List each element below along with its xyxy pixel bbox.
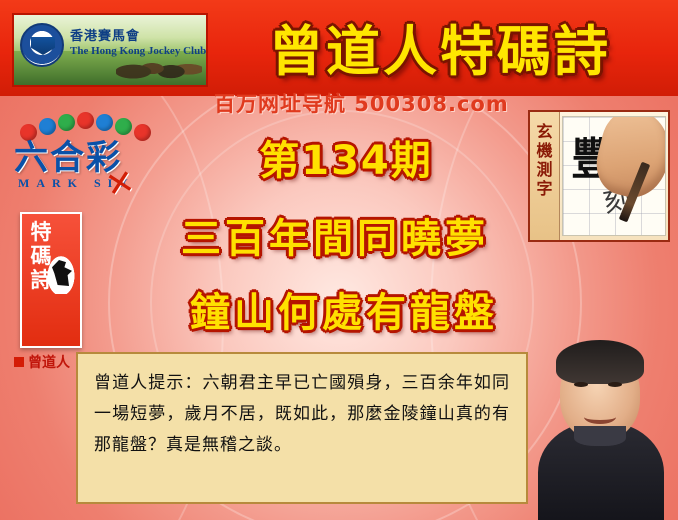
lottery-ball	[134, 124, 151, 141]
lottery-ball	[58, 114, 75, 131]
mark-six-logo: 六合彩 MARK SIX ✕	[14, 112, 162, 204]
poem-line-2: 鐘山何處有龍盤	[138, 280, 550, 338]
panel-label: 玄機測字	[530, 112, 560, 240]
lottery-ball	[96, 114, 113, 131]
jockey-club-logo-icon	[20, 23, 64, 67]
bullet-square-icon	[14, 357, 24, 367]
portrait-mouth	[584, 410, 616, 424]
portrait-eye-left	[574, 382, 588, 387]
header-banner: 香港賽馬會 The Hong Kong Jockey Club 曾道人特碼詩	[0, 0, 678, 96]
author-tag-label: 曾道人	[28, 355, 70, 371]
note-box: 曾道人提示：六朝君主早已亡國殞身，三百余年如同一場短夢，歲月不居，既如此，那麼金…	[76, 352, 528, 504]
watermark-text: 百万网址导航 500308.com	[214, 88, 534, 114]
poem-line-1: 三百年間同曉夢	[120, 206, 550, 264]
jockey-club-cn-name: 香港賽馬會	[70, 25, 140, 44]
lottery-ball	[77, 112, 94, 129]
portrait-collar	[574, 426, 626, 446]
horse-head-icon	[46, 254, 76, 294]
note-text: 曾道人提示：六朝君主早已亡國殞身，三百余年如同一場短夢，歲月不居，既如此，那麼金…	[94, 368, 510, 461]
poem-block: 三百年間同曉夢 鐘山何處有龍盤	[120, 200, 550, 354]
portrait-hair	[556, 340, 644, 384]
poster-root: 香港賽馬會 The Hong Kong Jockey Club 曾道人特碼詩 百…	[0, 0, 678, 520]
page-title: 曾道人特碼詩	[214, 6, 666, 86]
grid-paper: 豐 刻	[562, 116, 666, 236]
vertical-banner: 特碼詩	[20, 212, 82, 348]
portrait-eye-right	[608, 382, 622, 387]
issue-number: 第134期	[186, 128, 506, 180]
character-divination-panel: 玄機測字 豐 刻	[528, 110, 670, 242]
jockey-club-en-name: The Hong Kong Jockey Club	[70, 45, 206, 57]
master-portrait-icon	[520, 330, 678, 520]
jockey-club-badge: 香港賽馬會 The Hong Kong Jockey Club	[12, 13, 208, 87]
